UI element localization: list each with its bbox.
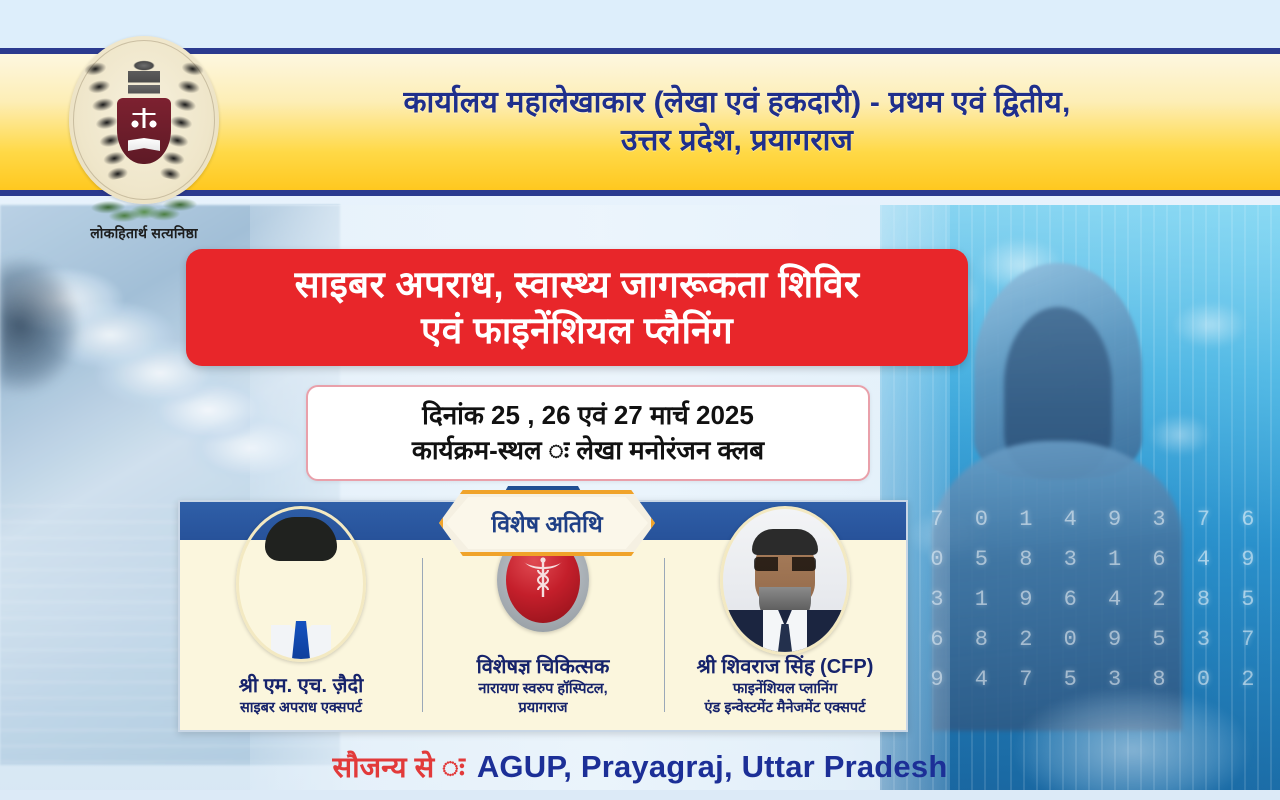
coins-shadow — [0, 255, 150, 425]
special-guest-badge-label: विशेष अतिथि — [491, 507, 602, 539]
organization-title-line2: उत्तर प्रदेश, प्रयागराज — [403, 122, 1070, 160]
guest-1-hair — [265, 517, 337, 561]
organization-title: कार्यालय महालेखाकार (लेखा एवं हकदारी) - … — [403, 84, 1070, 160]
guest-3-hair — [752, 529, 818, 555]
header-title-block: कार्यालय महालेखाकार (लेखा एवं हकदारी) - … — [210, 56, 1264, 188]
event-details-box: दिनांक 25 , 26 एवं 27 मार्च 2025 कार्यक्… — [306, 385, 870, 481]
guest-2-caption: विशेषज्ञ चिकित्सक नारायण स्वरुप हॉस्पिटल… — [469, 655, 618, 718]
bottom-strip — [0, 790, 1280, 800]
guest-2-role-line2: प्रयागराज — [477, 700, 610, 718]
event-title-banner: साइबर अपराध, स्वास्थ्य जागरूकता शिविर एव… — [186, 249, 968, 366]
guest-3-name: श्री शिवराज सिंह (CFP) — [697, 655, 874, 679]
guest-2-name: विशेषज्ञ चिकित्सक — [477, 655, 610, 679]
organization-title-line1: कार्यालय महालेखाकार (लेखा एवं हकदारी) - … — [403, 84, 1070, 122]
special-guest-badge: विशेष अतिथि — [439, 490, 655, 556]
event-date: दिनांक 25 , 26 एवं 27 मार्च 2025 — [422, 398, 754, 433]
guest-2-role-line1: नारायण स्वरुप हॉस्पिटल, — [477, 681, 610, 699]
sponsor-name: AGUP, Prayagraj, Uttar Pradesh — [477, 749, 948, 785]
event-venue: कार्यक्रम-स्थल ः लेखा मनोरंजन क्लब — [412, 433, 764, 468]
guest-1-caption: श्री एम. एच. ज़ैदी साइबर अपराध एक्सपर्ट — [231, 674, 372, 718]
event-title-line1: साइबर अपराध, स्वास्थ्य जागरूकता शिविर — [295, 262, 860, 307]
guest-1-name: श्री एम. एच. ज़ैदी — [239, 674, 364, 698]
emblem-shield — [117, 98, 171, 164]
sponsor-footer: सौजन्य से ः AGUP, Prayagraj, Uttar Prade… — [0, 747, 1280, 786]
event-title: साइबर अपराध, स्वास्थ्य जागरूकता शिविर एव… — [295, 262, 860, 352]
sponsor-label: सौजन्य से ः — [333, 747, 465, 786]
guest-item-3: श्री शिवराज सिंह (CFP) फाइनेंशियल प्लानि… — [664, 502, 906, 730]
guest-3-role-line2: एंड इन्वेस्टमेंट मैनेजमेंट एक्सपर्ट — [697, 700, 874, 718]
guest-3-caption: श्री शिवराज सिंह (CFP) फाइनेंशियल प्लानि… — [689, 655, 882, 718]
open-book-icon — [128, 138, 160, 151]
guest-3-glasses — [754, 557, 816, 571]
guest-3-avatar — [720, 506, 850, 655]
government-emblem-icon — [69, 36, 219, 204]
guest-1-role-line1: साइबर अपराध एक्सपर्ट — [239, 700, 364, 718]
guest-item-1: श्री एम. एच. ज़ैदी साइबर अपराध एक्सपर्ट — [180, 502, 422, 730]
ashoka-capital-icon — [128, 60, 160, 100]
emblem-block: लोकहितार्थ सत्यनिष्ठा — [58, 36, 230, 231]
scales-of-justice-icon — [131, 108, 157, 128]
event-poster: 8 7 0 1 4 9 3 7 6 2 2 0 5 8 3 1 6 4 9 0 … — [0, 0, 1280, 800]
guest-1-tie — [292, 621, 310, 659]
guest-3-role-line1: फाइनेंशियल प्लानिंग — [697, 681, 874, 699]
emblem-motto: लोकहितार्थ सत्यनिष्ठा — [58, 224, 230, 243]
special-guests-panel: विशेष अतिथि श्री एम. एच. ज़ैदी साइबर अपर… — [178, 500, 908, 732]
event-title-line2: एवं फाइनेंशियल प्लैनिंग — [295, 308, 860, 353]
guest-1-avatar — [236, 506, 366, 662]
laurel-leaves-icon — [87, 180, 200, 228]
